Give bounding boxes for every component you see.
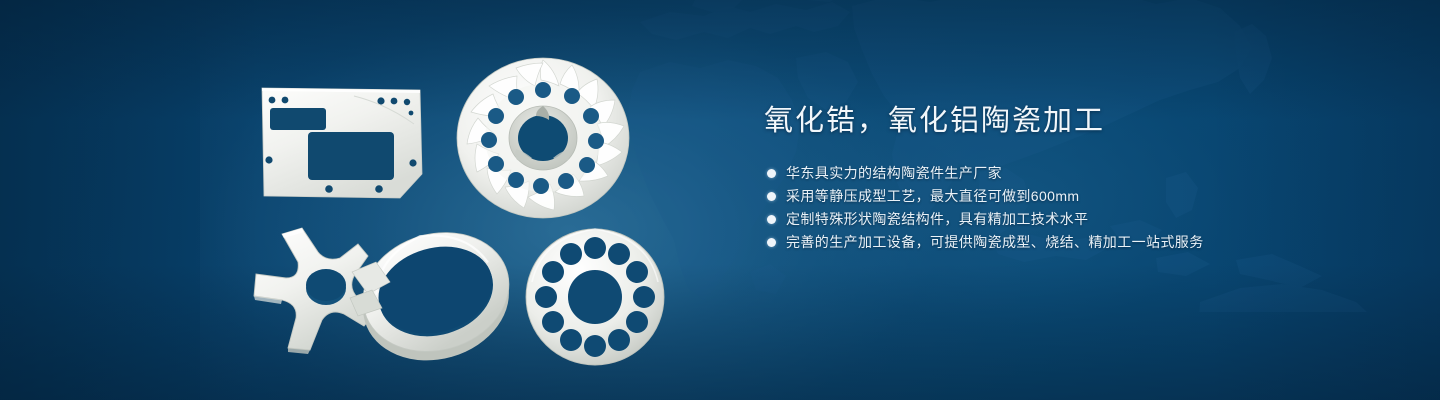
list-item-label: 完善的生产加工设备，可提供陶瓷成型、烧结、精加工一站式服务 (786, 234, 1204, 250)
list-item-label: 采用等静压成型工艺，最大直径可做到600mm (786, 188, 1079, 204)
bullet-dot-icon (767, 192, 776, 201)
feature-list: 华东具实力的结构陶瓷件生产厂家 采用等静压成型工艺，最大直径可做到600mm 定… (760, 162, 1380, 254)
list-item: 华东具实力的结构陶瓷件生产厂家 (760, 162, 1380, 185)
page-title: 氧化锆，氧化铝陶瓷加工 (764, 104, 1380, 138)
product-photo-group (0, 0, 720, 400)
ceramic-ring-gasket (346, 216, 526, 366)
list-item: 定制特殊形状陶瓷结构件，具有精加工技术水平 (760, 208, 1380, 231)
list-item-label: 定制特殊形状陶瓷结构件，具有精加工技术水平 (786, 211, 1088, 227)
bullet-dot-icon (767, 215, 776, 224)
ceramic-perforated-disc (518, 220, 673, 375)
list-item: 完善的生产加工设备，可提供陶瓷成型、烧结、精加工一站式服务 (760, 231, 1380, 254)
list-item-label: 华东具实力的结构陶瓷件生产厂家 (786, 165, 1002, 181)
ceramic-machined-plate (248, 70, 438, 210)
banner-copy: 氧化锆，氧化铝陶瓷加工 华东具实力的结构陶瓷件生产厂家 采用等静压成型工艺，最大… (760, 104, 1380, 254)
bullet-dot-icon (767, 238, 776, 247)
promo-banner: 氧化锆，氧化铝陶瓷加工 华东具实力的结构陶瓷件生产厂家 采用等静压成型工艺，最大… (0, 0, 1440, 400)
list-item: 采用等静压成型工艺，最大直径可做到600mm (760, 185, 1380, 208)
ceramic-impeller-wheel (448, 46, 638, 226)
bullet-dot-icon (767, 169, 776, 178)
